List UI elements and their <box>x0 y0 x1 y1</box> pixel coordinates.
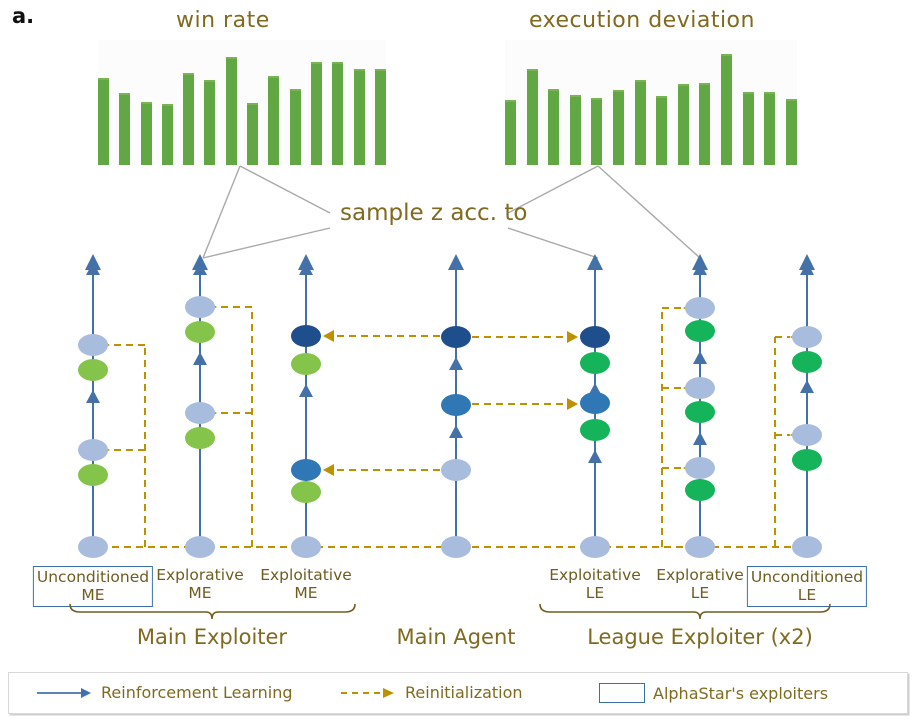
group-braces <box>0 0 917 720</box>
legend-item-reinforcement-learning: Reinforcement Learning <box>37 683 293 702</box>
solid-blue-arrow-icon <box>37 686 93 700</box>
group-label-league-exploiter: League Exploiter (x2) <box>587 625 813 649</box>
legend-item-reinitialization: Reinitialization <box>341 683 523 702</box>
figure-root: a. win rate execution deviation sample z… <box>0 0 917 720</box>
legend-panel: Reinforcement Learning Reinitialization … <box>8 672 908 714</box>
legend-item-alphastar-exploiters: AlphaStar's exploiters <box>599 683 828 703</box>
legend-label-alphastar-exploiters: AlphaStar's exploiters <box>653 684 828 703</box>
legend-label-reinforcement-learning: Reinforcement Learning <box>101 683 293 702</box>
group-label-main-agent: Main Agent <box>397 625 516 649</box>
blue-rectangle-icon <box>599 683 645 703</box>
group-label-main-exploiter: Main Exploiter <box>137 625 287 649</box>
dashed-gold-arrow-icon <box>341 686 397 700</box>
legend-label-reinitialization: Reinitialization <box>405 683 523 702</box>
